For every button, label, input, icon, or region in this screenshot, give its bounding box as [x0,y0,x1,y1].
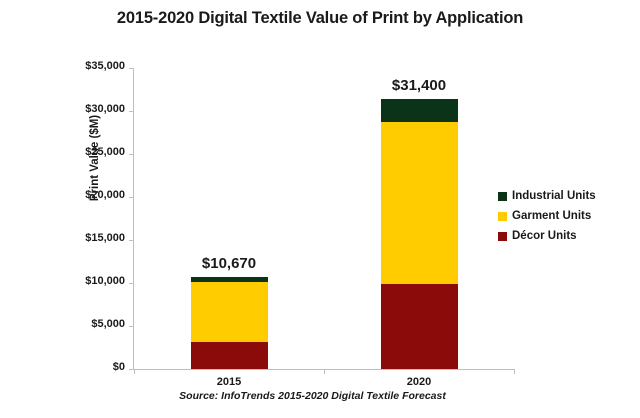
y-axis-tick: $30,000 [64,111,134,112]
legend-item[interactable]: Décor Units [498,226,633,246]
y-axis-tick-label: $0 [113,361,125,373]
chart-title: 2015-2020 Digital Textile Value of Print… [0,9,640,28]
y-axis-tick-mark [129,68,134,69]
x-axis-tick-mark [134,369,135,374]
y-axis-tick-mark [129,111,134,112]
bar-stack[interactable]: $31,400 [381,68,458,369]
x-axis-tick-label: 2020 [374,376,464,388]
bar-segment[interactable] [191,282,268,342]
y-axis-tick: $15,000 [64,240,134,241]
bar-segment[interactable] [381,99,458,122]
y-axis-tick-mark [129,326,134,327]
y-axis-tick-label: $15,000 [85,232,125,244]
y-axis-tick: $20,000 [64,197,134,198]
y-axis-tick: $5,000 [64,326,134,327]
y-axis-tick-label: $10,000 [85,275,125,287]
legend-swatch-icon [498,212,507,221]
bar-total-label: $31,400 [392,77,446,94]
y-axis-tick: $10,000 [64,283,134,284]
bar-stack[interactable]: $10,670 [191,68,268,369]
legend-item[interactable]: Garment Units [498,206,633,226]
bar-segment[interactable] [381,122,458,284]
x-axis-tick-label: 2015 [184,376,274,388]
y-axis-tick: $35,000 [64,68,134,69]
chart-legend: Industrial UnitsGarment UnitsDécor Units [498,186,633,246]
legend-swatch-icon [498,232,507,241]
legend-swatch-icon [498,192,507,201]
x-axis-tick-mark [514,369,515,374]
chart-container: 2015-2020 Digital Textile Value of Print… [0,0,640,418]
x-axis-tick-mark [324,369,325,374]
legend-label: Industrial Units [512,190,596,202]
legend-label: Garment Units [512,210,591,222]
source-note: Source: InfoTrends 2015-2020 Digital Tex… [0,390,625,402]
bar-segment[interactable] [381,284,458,369]
y-axis-tick: $0 [64,369,134,370]
y-axis-tick-label: $20,000 [85,189,125,201]
bar-segment[interactable] [191,342,268,369]
y-axis-tick-mark [129,154,134,155]
y-axis-tick-label: $35,000 [85,60,125,72]
legend-item[interactable]: Industrial Units [498,186,633,206]
bar-segment[interactable] [191,277,268,282]
y-axis-tick-label: $5,000 [91,318,125,330]
y-axis-tick-label: $25,000 [85,146,125,158]
y-axis-tick-mark [129,197,134,198]
y-axis-tick: $25,000 [64,154,134,155]
y-axis-tick-label: $30,000 [85,103,125,115]
y-axis-tick-mark [129,240,134,241]
legend-label: Décor Units [512,230,577,242]
bar-total-label: $10,670 [202,255,256,272]
y-axis-tick-mark [129,283,134,284]
plot-area: $0$5,000$10,000$15,000$20,000$25,000$30,… [133,68,514,370]
